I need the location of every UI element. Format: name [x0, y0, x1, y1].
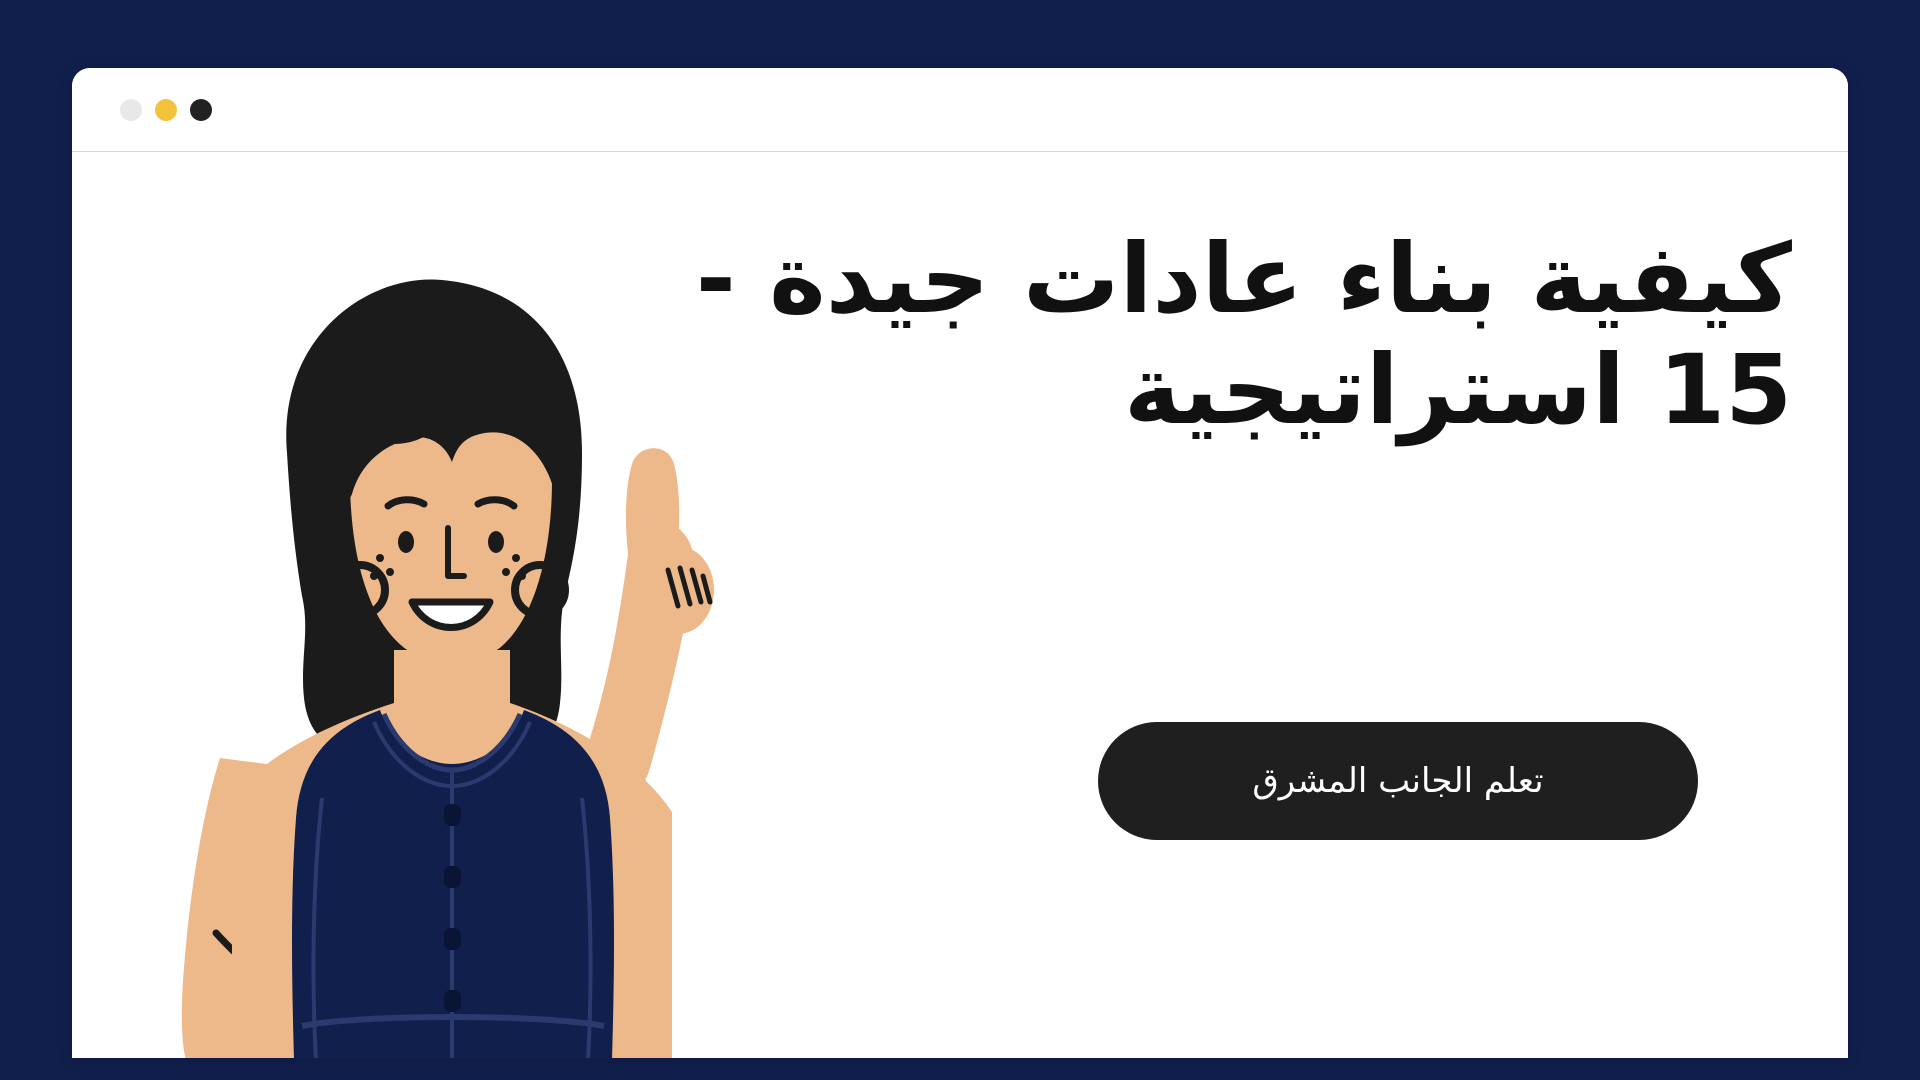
left-eye — [398, 531, 414, 553]
hair-bun-shape — [336, 344, 452, 444]
close-dot[interactable] — [190, 99, 212, 121]
window-controls — [120, 99, 212, 121]
browser-title-bar — [72, 68, 1848, 152]
page-title: كيفية بناء عادات جيدة - 15 استراتيجية — [692, 224, 1792, 447]
browser-window: كيفية بناء عادات جيدة - 15 استراتيجية تع… — [72, 68, 1848, 1058]
minimize-dot[interactable] — [120, 99, 142, 121]
right-eye — [488, 531, 504, 553]
page-title-line-1: كيفية بناء عادات جيدة - — [692, 224, 1792, 335]
learn-bright-side-button[interactable]: تعلم الجانب المشرق — [1098, 722, 1698, 840]
page-title-line-2: 15 استراتيجية — [692, 335, 1792, 446]
cta-container: تعلم الجانب المشرق — [1098, 722, 1698, 840]
slide-content: كيفية بناء عادات جيدة - 15 استراتيجية تع… — [72, 152, 1848, 1058]
maximize-dot[interactable] — [155, 99, 177, 121]
fist-shape — [642, 546, 714, 634]
